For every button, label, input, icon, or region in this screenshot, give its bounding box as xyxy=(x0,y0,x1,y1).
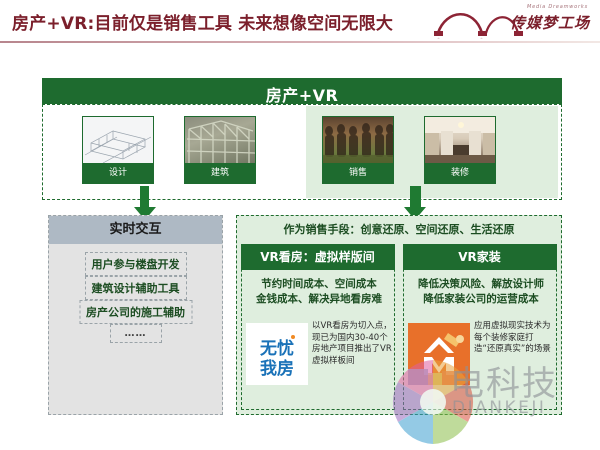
header-divider xyxy=(0,41,600,43)
blueprint-wireframe-house-icon xyxy=(83,117,153,165)
sales-crowd-people-icon xyxy=(323,117,393,165)
orange-home-design-logo xyxy=(408,323,470,385)
wuyou-wofang-logo-dot-icon xyxy=(291,335,295,339)
realtime-interaction-heading: 实时交互 xyxy=(49,216,222,244)
chain-card-decoration-label: 装修 xyxy=(425,163,495,183)
chain-card-decoration[interactable]: 装修 xyxy=(424,116,496,184)
chain-card-sales-thumb xyxy=(323,117,393,165)
brand-logo-cn: 传媒梦工场 xyxy=(510,12,590,33)
vr-home-deco-desc: 降低决策风险、解放设计师 降低家装公司的运营成本 xyxy=(408,277,554,307)
vr-viewing-desc: 节约时间成本、空间成本 金钱成本、解决异地看房难 xyxy=(246,277,392,307)
chain-card-construction[interactable]: 建筑 xyxy=(184,116,256,184)
vr-home-deco-column: VR家装 降低决策风险、解放设计师 降低家装公司的运营成本 xyxy=(403,244,557,410)
vr-home-deco-blurb: 应用虚拟现实技术为每个装修家庭打造“还原真实”的场景 xyxy=(474,321,554,356)
page-title-main: 房产+VR:目前仅是销售工具 xyxy=(12,14,232,34)
chain-card-design[interactable]: 设计 xyxy=(82,116,154,184)
realtime-item-3[interactable]: …… xyxy=(110,324,162,343)
page-title: 房产+VR:目前仅是销售工具 未来想像空间无限大 xyxy=(12,9,393,34)
steel-frame-construction-icon xyxy=(185,117,255,165)
brand-logo-en: Media Dreamworks xyxy=(527,4,588,10)
house-m-mark-icon xyxy=(408,323,470,385)
wuyou-wofang-logo: 无忧 我房 xyxy=(246,323,308,385)
chain-card-design-label: 设计 xyxy=(83,163,153,183)
realtime-item-0[interactable]: 用户参与楼盘开发 xyxy=(85,252,187,276)
vr-viewing-heading: VR看房：虚拟样版间 xyxy=(241,244,395,270)
vr-viewing-blurb: 以VR看房为切入点，现已为国内30-40个房地产项目推出了VR虚拟样板间 xyxy=(312,321,392,367)
slide-header: 房产+VR:目前仅是销售工具 未来想像空间无限大 Media Dreamwork… xyxy=(0,0,600,42)
chain-card-decoration-thumb xyxy=(425,117,495,165)
sales-means-heading: 作为销售手段：创意还原、空间还原、生活还原 xyxy=(237,221,561,237)
realtime-item-2[interactable]: 房产公司的施工辅助 xyxy=(79,300,192,324)
vr-viewing-column: VR看房：虚拟样版间 节约时间成本、空间成本 金钱成本、解决异地看房难 无忧 我… xyxy=(241,244,395,410)
vr-home-deco-heading: VR家装 xyxy=(403,244,557,270)
brand-logo: Media Dreamworks 传媒梦工场 xyxy=(432,3,592,39)
wuyou-wofang-logo-line2: 我房 xyxy=(246,354,308,379)
chain-card-design-thumb xyxy=(83,117,153,165)
vr-viewing-case: 无忧 我房 以VR看房为切入点，现已为国内30-40个房地产项目推出了VR虚拟样… xyxy=(246,321,392,405)
sales-means-panel: 作为销售手段：创意还原、空间还原、生活还原 VR看房：虚拟样版间 节约时间成本、… xyxy=(236,215,562,415)
chain-card-construction-thumb xyxy=(185,117,255,165)
slide-canvas: 房产+VR:目前仅是销售工具 未来想像空间无限大 Media Dreamwork… xyxy=(0,0,600,450)
section-banner-label: 房产+VR xyxy=(42,82,562,106)
vr-home-deco-case: 应用虚拟现实技术为每个装修家庭打造“还原真实”的场景 xyxy=(408,321,554,405)
section-banner: 房产+VR xyxy=(42,78,562,106)
realtime-item-1[interactable]: 建筑设计辅助工具 xyxy=(85,276,187,300)
chain-card-construction-label: 建筑 xyxy=(185,163,255,183)
chain-card-sales-label: 销售 xyxy=(323,163,393,183)
chain-card-sales[interactable]: 销售 xyxy=(322,116,394,184)
realtime-interaction-panel: 实时交互 用户参与楼盘开发 建筑设计辅助工具 房产公司的施工辅助 …… xyxy=(48,215,223,415)
interior-living-room-icon xyxy=(425,117,495,165)
page-title-sub: 未来想像空间无限大 xyxy=(238,14,393,34)
